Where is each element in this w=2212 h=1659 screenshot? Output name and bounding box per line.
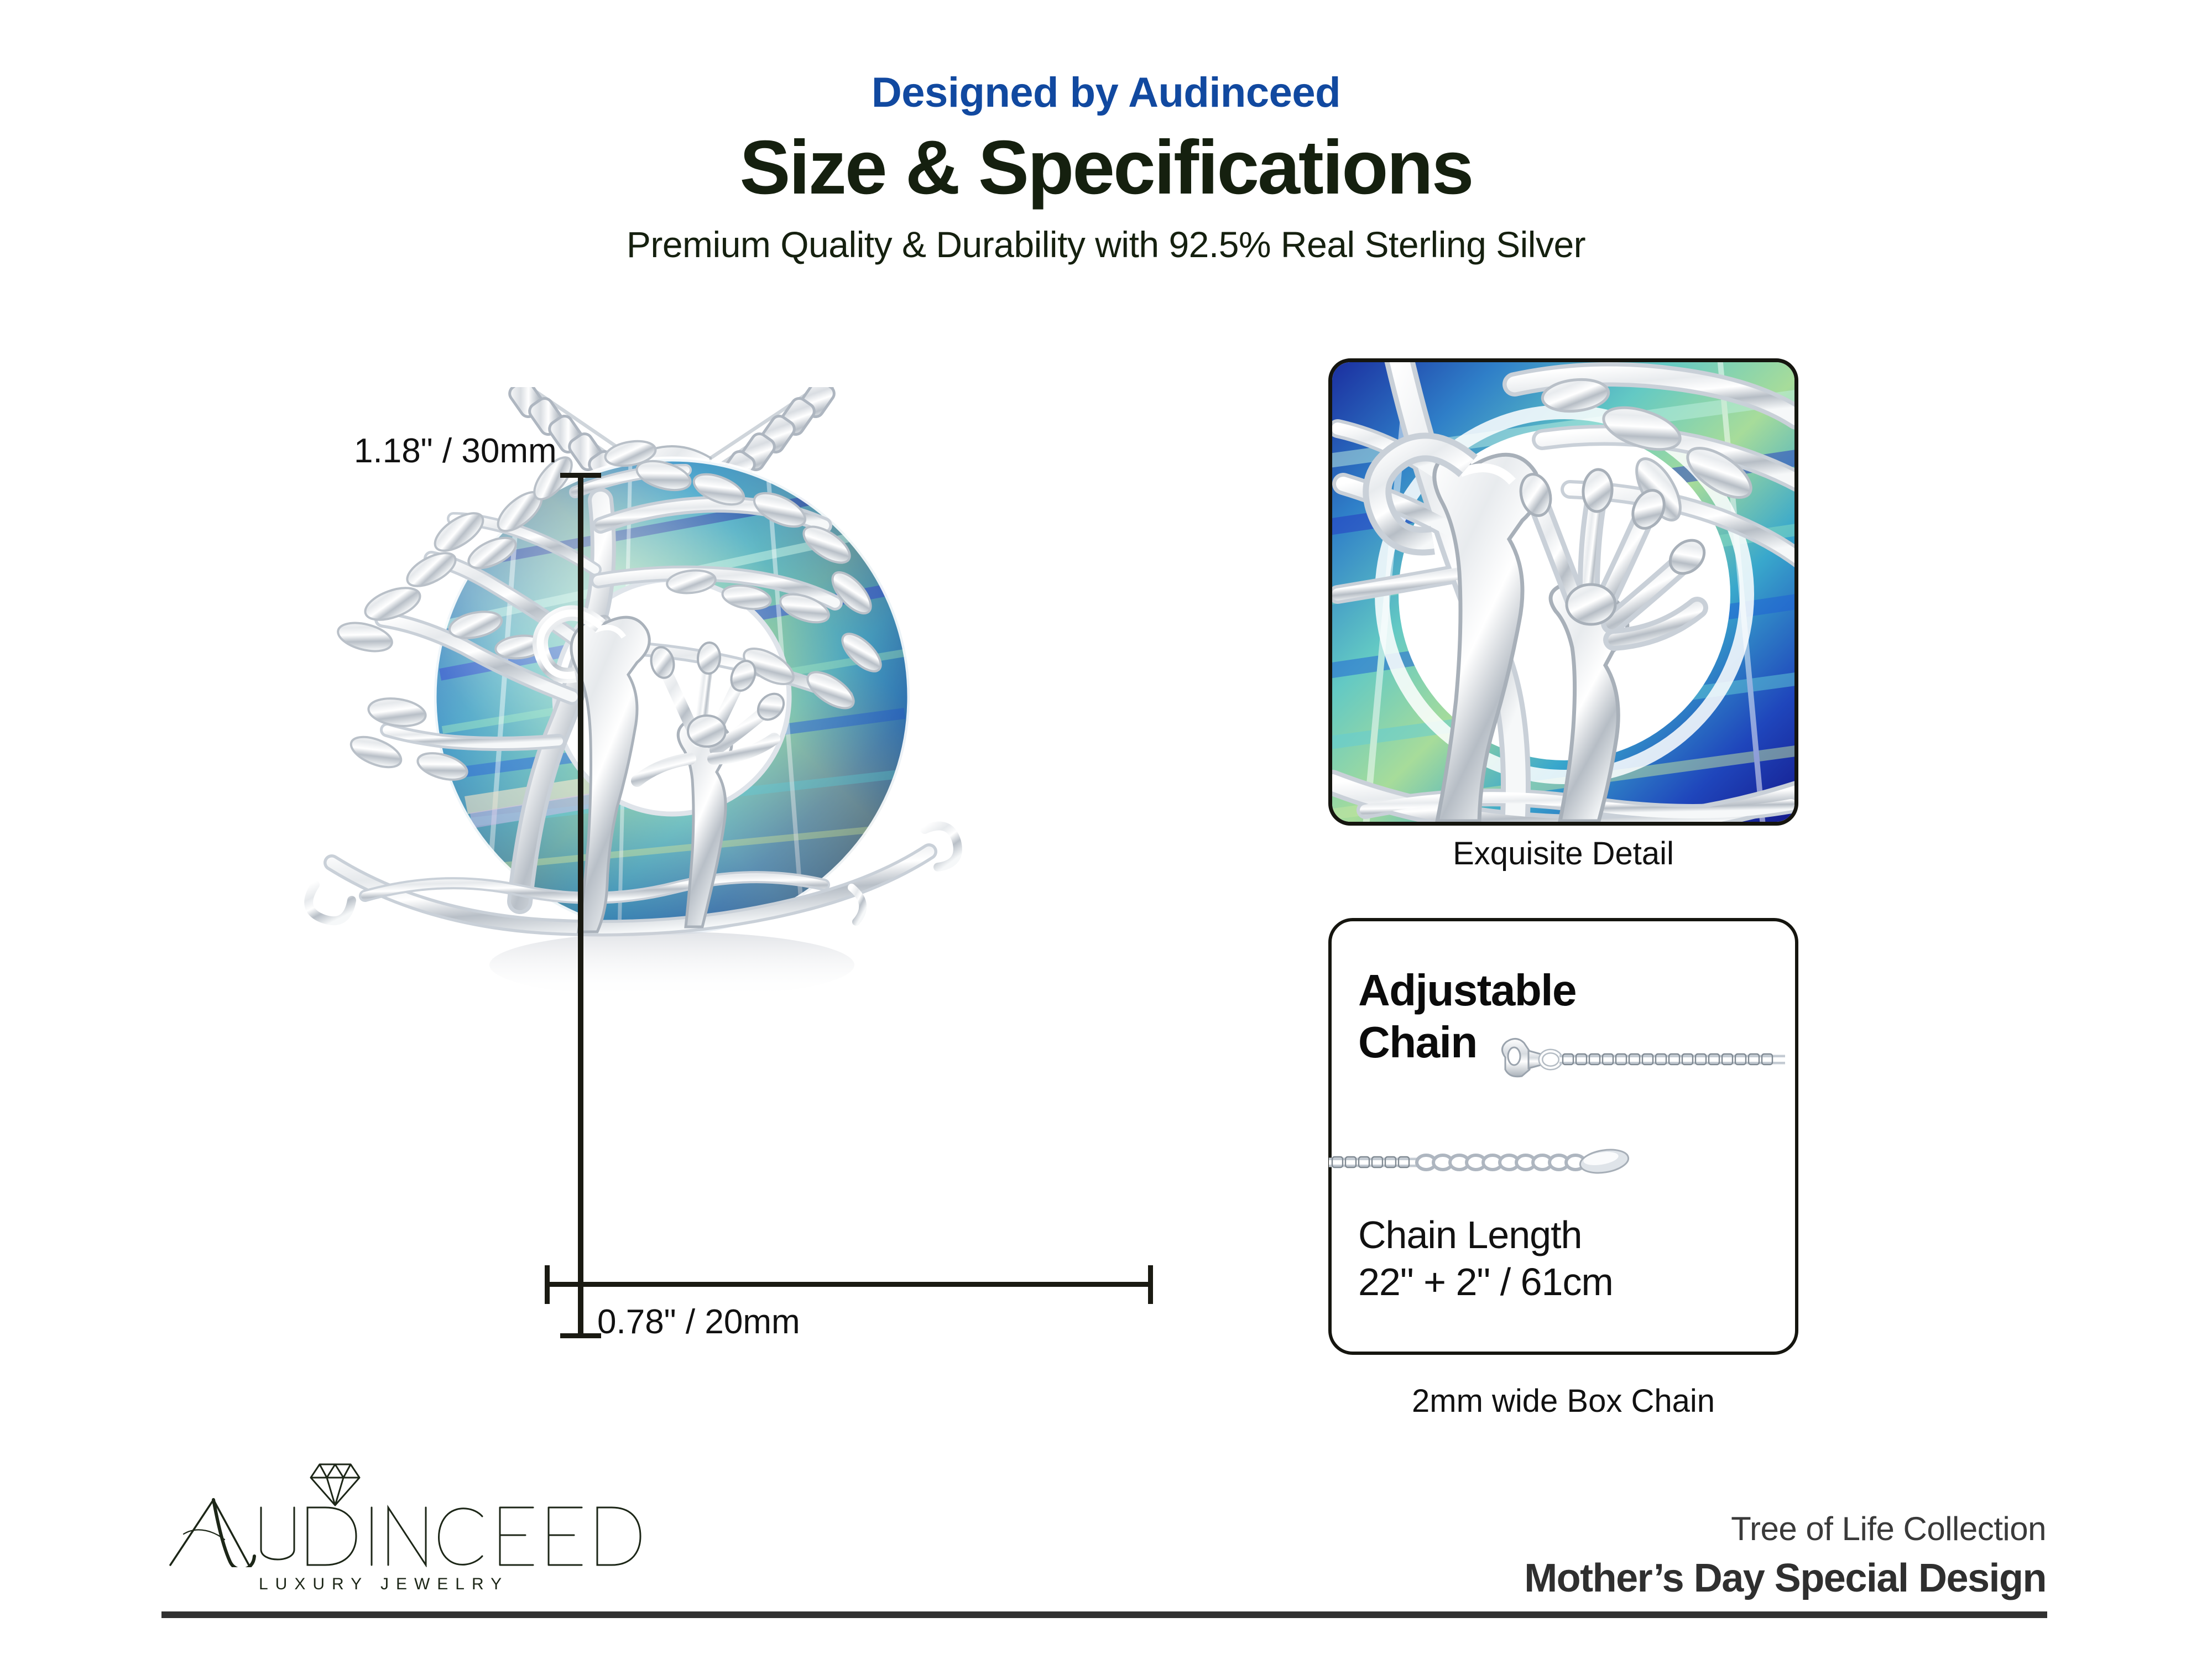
spec-sheet-page: Designed by Audinceed Size & Specificati… <box>0 0 2212 1659</box>
occasion-name: Mother’s Day Special Design <box>1524 1556 2046 1601</box>
adjustable-chain-card: Adjustable Chain <box>1328 918 1798 1355</box>
chain-extender-photo <box>1329 1137 1716 1203</box>
dimension-line-horizontal <box>545 1282 1153 1287</box>
chain-end-tag <box>1578 1146 1630 1176</box>
brand-tagline: LUXURY JEWELRY <box>259 1575 509 1594</box>
detail-caption: Exquisite Detail <box>1328 835 1798 872</box>
chain-title-line1: Adjustable <box>1358 966 1576 1015</box>
dimension-label-width: 0.78" / 20mm <box>597 1302 800 1342</box>
brand-wordmark <box>166 1496 641 1567</box>
dimension-line-vertical <box>578 473 583 1338</box>
box-chain-upper <box>1559 1054 1785 1065</box>
product-photo-main <box>133 387 1211 1371</box>
exquisite-detail-photo <box>1328 358 1798 826</box>
page-title: Size & Specifications <box>0 126 2212 210</box>
extender-links <box>1417 1155 1585 1170</box>
chain-title-line2: Chain <box>1358 1018 1477 1067</box>
lobster-clasp <box>1502 1039 1541 1076</box>
collection-name: Tree of Life Collection <box>1524 1510 2046 1548</box>
brand-logo: LUXURY JEWELRY <box>166 1478 641 1599</box>
footer-collection-info: Tree of Life Collection Mother’s Day Spe… <box>1524 1510 2046 1601</box>
footer-divider <box>161 1611 2047 1618</box>
header: Designed by Audinceed Size & Specificati… <box>0 72 2212 265</box>
chain-length-line1: Chain Length <box>1358 1213 1582 1256</box>
page-subtitle: Premium Quality & Durability with 92.5% … <box>0 223 2212 265</box>
product-reflection <box>489 932 854 998</box>
chain-length-text: Chain Length 22" + 2" / 61cm <box>1358 1212 1790 1306</box>
chain-length-line2: 22" + 2" / 61cm <box>1358 1260 1613 1303</box>
brand-kicker: Designed by Audinceed <box>0 72 2212 114</box>
chain-caption: 2mm wide Box Chain <box>1328 1383 1798 1420</box>
dimension-label-height: 1.18" / 30mm <box>354 431 557 471</box>
